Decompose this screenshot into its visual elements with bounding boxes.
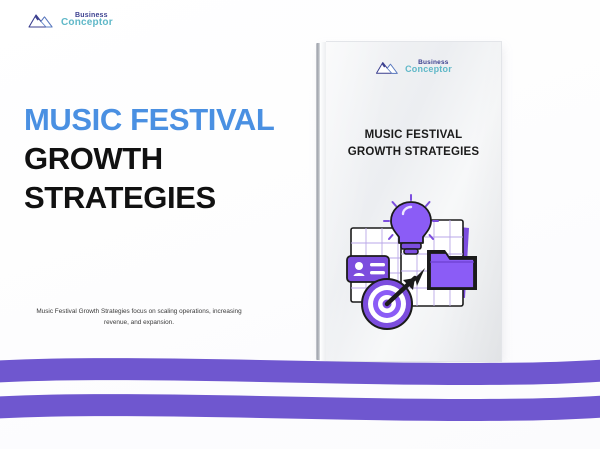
- book-title: MUSIC FESTIVAL GROWTH STRATEGIES: [326, 127, 501, 160]
- book-brand-logo: Business Conceptor: [375, 58, 452, 76]
- decorative-wave-bands: [0, 339, 600, 449]
- business-strategy-illustration: [339, 194, 489, 334]
- brand-logo-wordmark: Business Conceptor: [61, 12, 113, 28]
- book-mockup: Business Conceptor MUSIC FESTIVAL GROWTH…: [316, 41, 502, 362]
- book-title-line-2: GROWTH STRATEGIES: [326, 144, 501, 161]
- subtitle-text: Music Festival Growth Strategies focus o…: [28, 306, 250, 328]
- brand-name-bottom: Conceptor: [61, 18, 113, 28]
- book-brand-wordmark: Business Conceptor: [405, 60, 452, 75]
- mountain-logo-icon: [28, 10, 58, 30]
- slide-canvas: Business Conceptor MUSIC FESTIVAL GROWTH…: [0, 0, 600, 449]
- id-card-icon: [347, 256, 389, 282]
- book-brand-name-bottom: Conceptor: [405, 65, 452, 74]
- headline-line-3: STRATEGIES: [24, 178, 294, 217]
- book-cover: Business Conceptor MUSIC FESTIVAL GROWTH…: [326, 41, 502, 362]
- brand-logo: Business Conceptor: [28, 10, 113, 30]
- wave-band-bottom: [0, 394, 600, 421]
- folder-icon: [427, 250, 477, 290]
- headline-line-2: GROWTH: [24, 139, 294, 178]
- mountain-logo-icon: [375, 58, 402, 76]
- wave-band-top: [0, 358, 600, 385]
- book-title-line-1: MUSIC FESTIVAL: [326, 127, 501, 144]
- page-title: MUSIC FESTIVAL GROWTH STRATEGIES: [24, 100, 294, 217]
- headline-line-1: MUSIC FESTIVAL: [24, 100, 294, 139]
